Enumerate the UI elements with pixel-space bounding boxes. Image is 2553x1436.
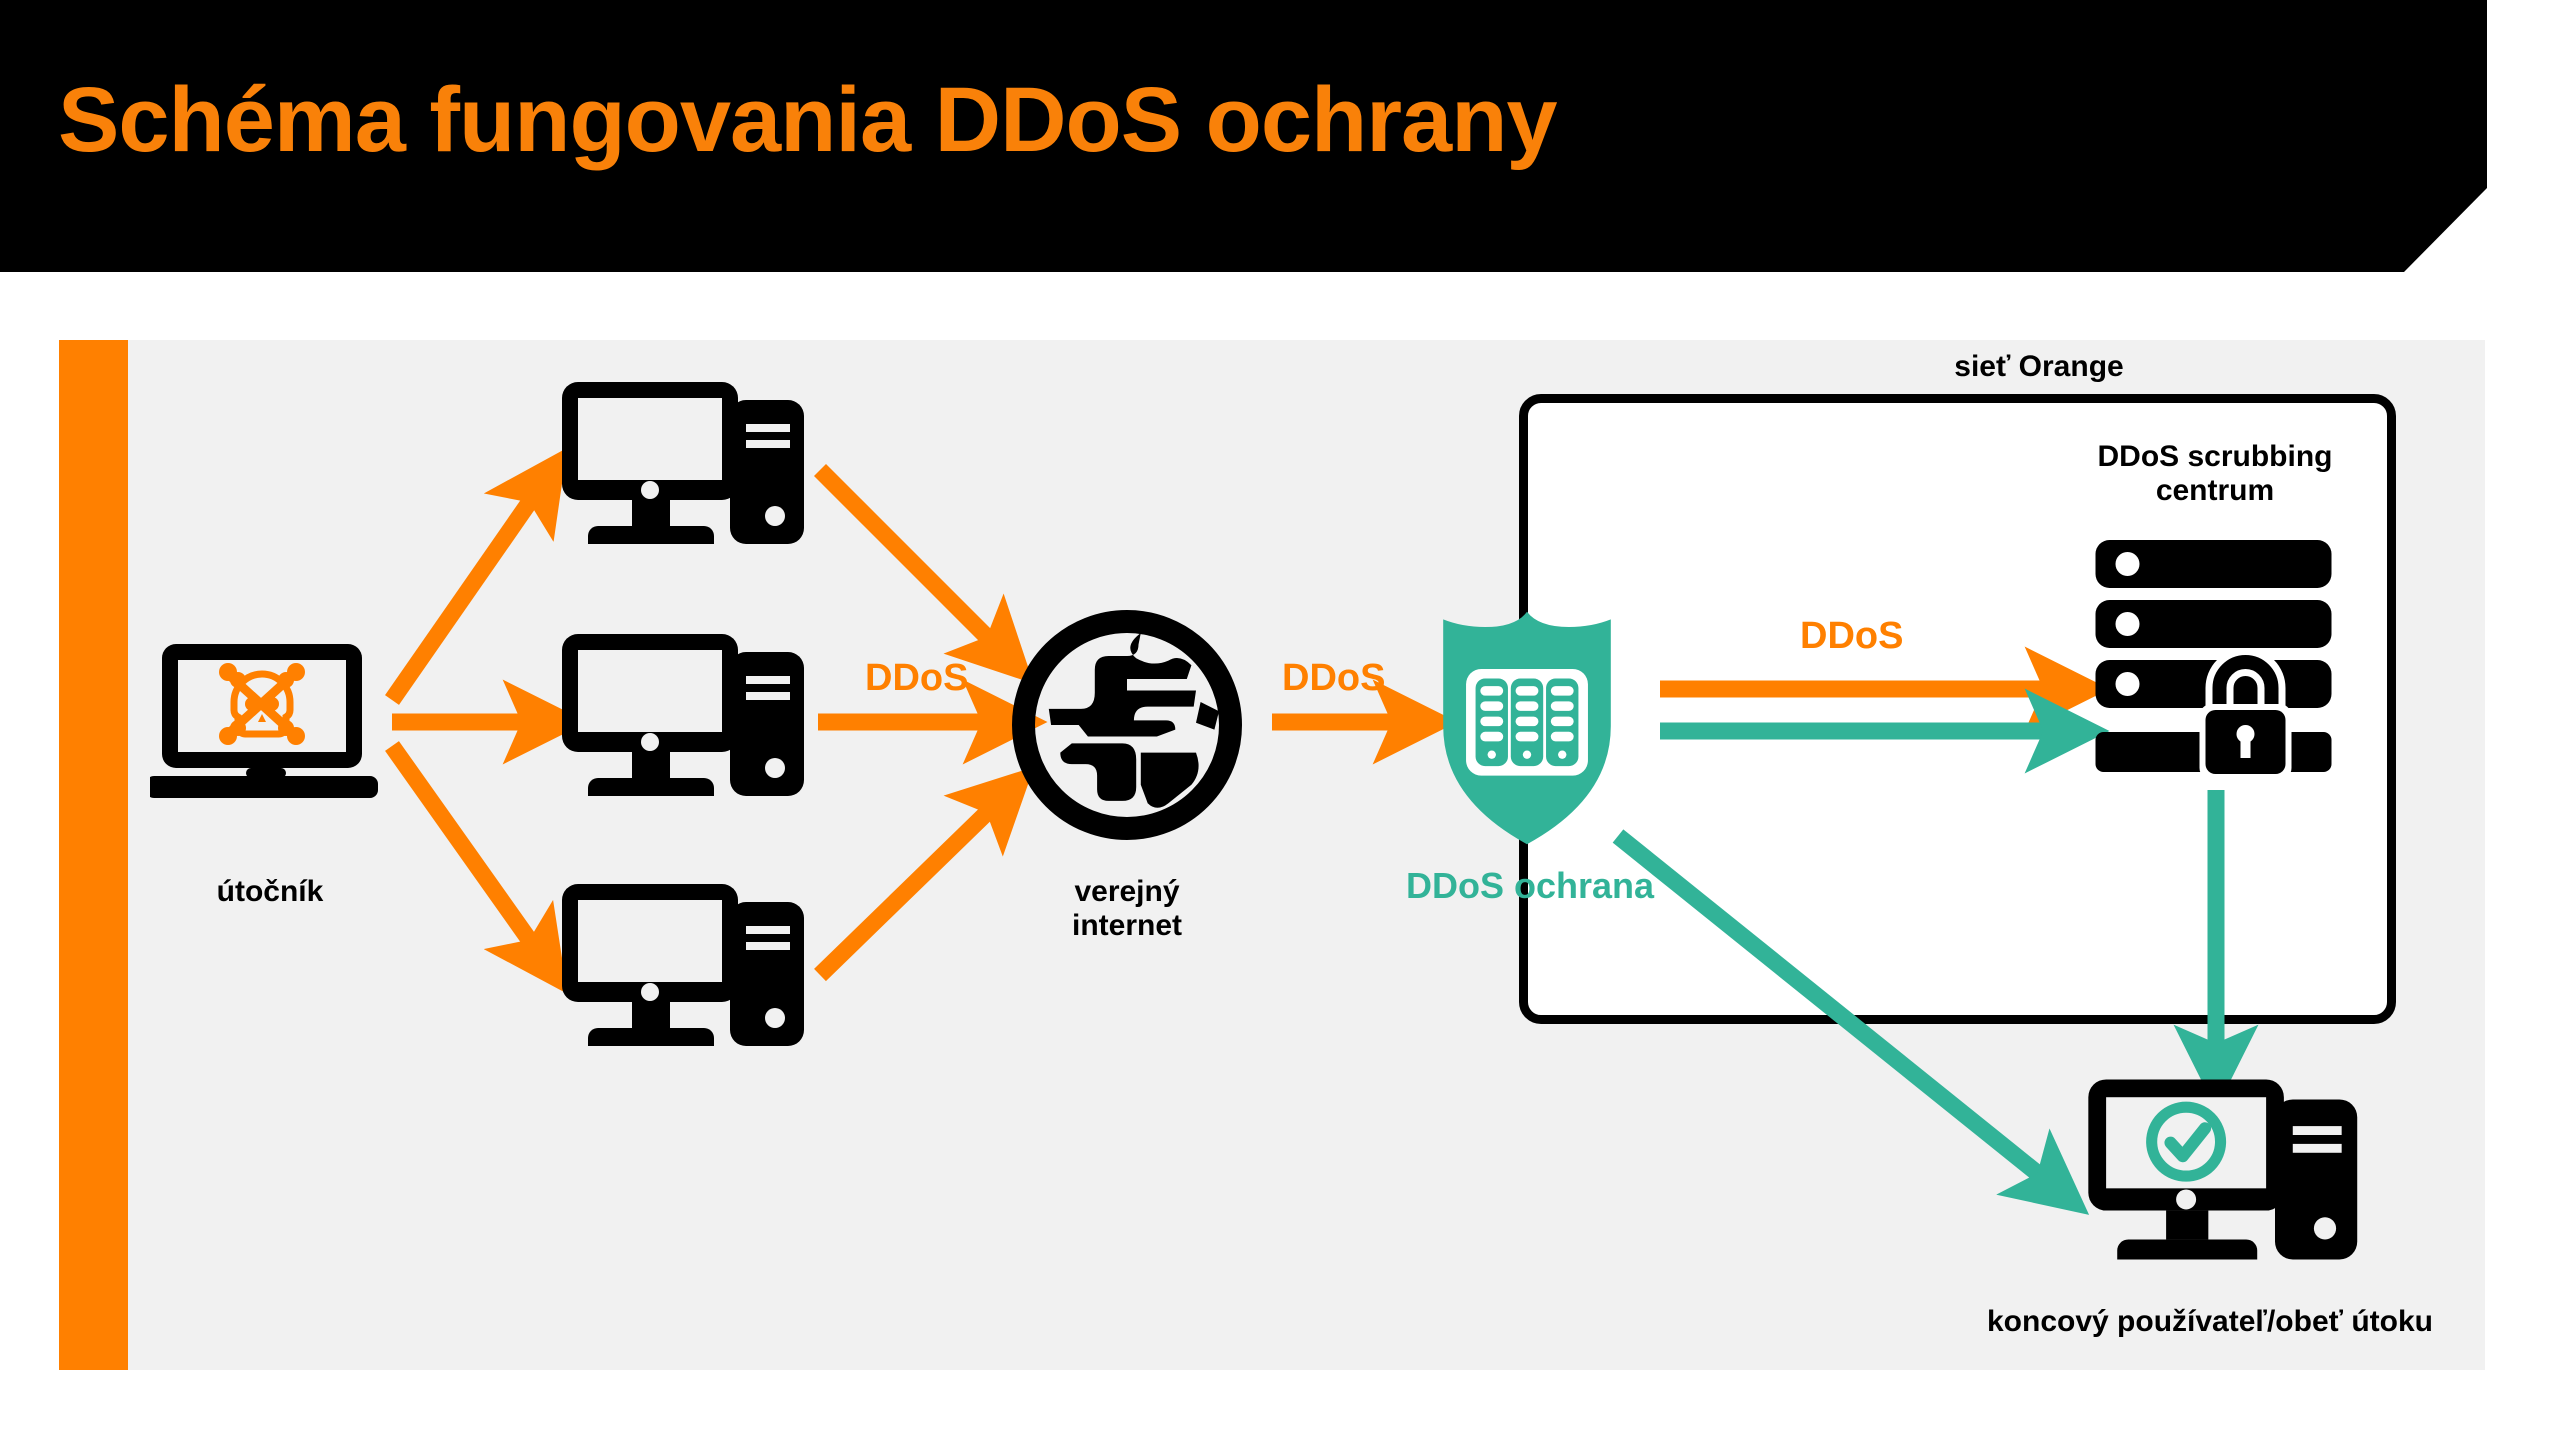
desktop-computer-icon — [560, 378, 810, 558]
internet-label-line1: verejný — [1074, 875, 1179, 908]
node-label-attacker: útočník — [110, 875, 430, 909]
server-rack-lock-icon — [2095, 540, 2340, 780]
node-label-scrubbing: DDoS scrubbing centrum — [2025, 440, 2405, 507]
scrubbing-label-line1: DDoS scrubbing — [2097, 440, 2332, 473]
node-bot-2[interactable] — [560, 630, 810, 810]
flow-label-ddos-shield: DDoS — [1282, 657, 1385, 700]
flow-label-ddos-scrubbing: DDoS — [1800, 615, 1903, 658]
slide-canvas: Schéma fungovania DDoS ochrany sieť Oran… — [0, 0, 2553, 1436]
scrubbing-label-line2: centrum — [2156, 474, 2274, 507]
node-victim[interactable] — [2085, 1075, 2365, 1275]
globe-icon — [1012, 610, 1242, 840]
node-label-victim: koncový používateľ/obeť útoku — [1900, 1305, 2520, 1339]
page-title: Schéma fungovania DDoS ochrany — [58, 68, 1557, 173]
internet-label-line2: internet — [1072, 909, 1182, 942]
shield-servers-icon — [1412, 608, 1642, 848]
node-bot-1[interactable] — [560, 378, 810, 558]
desktop-computer-icon — [560, 880, 810, 1060]
flow-label-ddos-internet: DDoS — [865, 657, 968, 700]
laptop-skull-icon — [150, 640, 390, 800]
node-bot-3[interactable] — [560, 880, 810, 1060]
node-attacker[interactable] — [150, 640, 390, 800]
desktop-computer-icon — [560, 630, 810, 810]
node-label-internet: verejný internet — [972, 875, 1282, 942]
node-internet[interactable] — [1012, 610, 1242, 840]
node-scrubbing-center[interactable] — [2095, 540, 2340, 780]
panel-accent-bar — [59, 340, 128, 1370]
orange-network-label: sieť Orange — [1849, 350, 2229, 384]
node-protection[interactable] — [1412, 608, 1642, 848]
node-label-protection: DDoS ochrana — [1370, 866, 1690, 906]
desktop-check-icon — [2085, 1075, 2365, 1275]
